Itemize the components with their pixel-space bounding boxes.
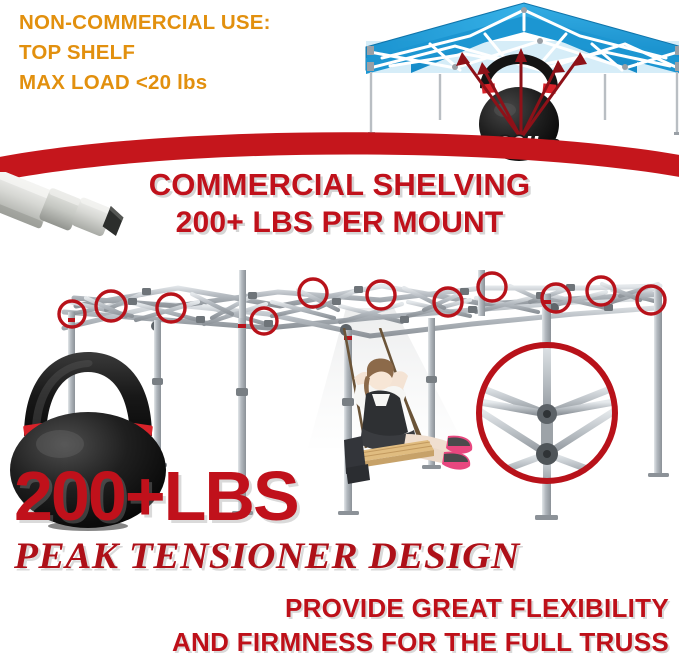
- swing-svg: [322, 328, 494, 510]
- headline-block: COMMERCIAL SHELVING 200+ LBS PER MOUNT: [0, 166, 679, 242]
- infographic-canvas: <20lbs NON-COMMERCIAL USE: TOP SHELF MAX…: [0, 0, 679, 666]
- girl-shoe-2-sole: [444, 453, 468, 462]
- magnifier-svg: [472, 338, 622, 488]
- non-commercial-warning: NON-COMMERCIAL USE: TOP SHELF MAX LOAD <…: [19, 8, 339, 98]
- warning-line-2: TOP SHELF: [19, 38, 339, 68]
- frame-leg-5: [654, 288, 662, 476]
- peak-tensioner-design-callout: PEAK TENSIONER DESIGN: [14, 536, 520, 578]
- peak-tensioner-magnifier: [472, 338, 622, 488]
- bottom-line-1: PROVIDE GREAT FLEXIBILITY: [0, 591, 669, 625]
- headline-line-2: 200+ LBS PER MOUNT: [0, 204, 679, 242]
- bottom-line-2: AND FIRMNESS FOR THE FULL TRUSS: [0, 625, 669, 659]
- headline-line-1: COMMERCIAL SHELVING: [0, 166, 679, 204]
- warning-line-3: MAX LOAD <20 lbs: [19, 68, 339, 98]
- tensioner-bottom-pin: [543, 450, 551, 458]
- bottom-tagline-block: PROVIDE GREAT FLEXIBILITY AND FIRMNESS F…: [0, 591, 674, 659]
- tensioner-top-pin: [543, 410, 551, 418]
- big-weight-callout: 200+LBS: [14, 461, 298, 531]
- frame-leg-upper-a: [239, 270, 246, 326]
- girl-on-swing-illustration: [322, 328, 494, 510]
- warning-line-1: NON-COMMERCIAL USE:: [19, 8, 339, 38]
- kettlebell-body-highlight: [36, 430, 84, 458]
